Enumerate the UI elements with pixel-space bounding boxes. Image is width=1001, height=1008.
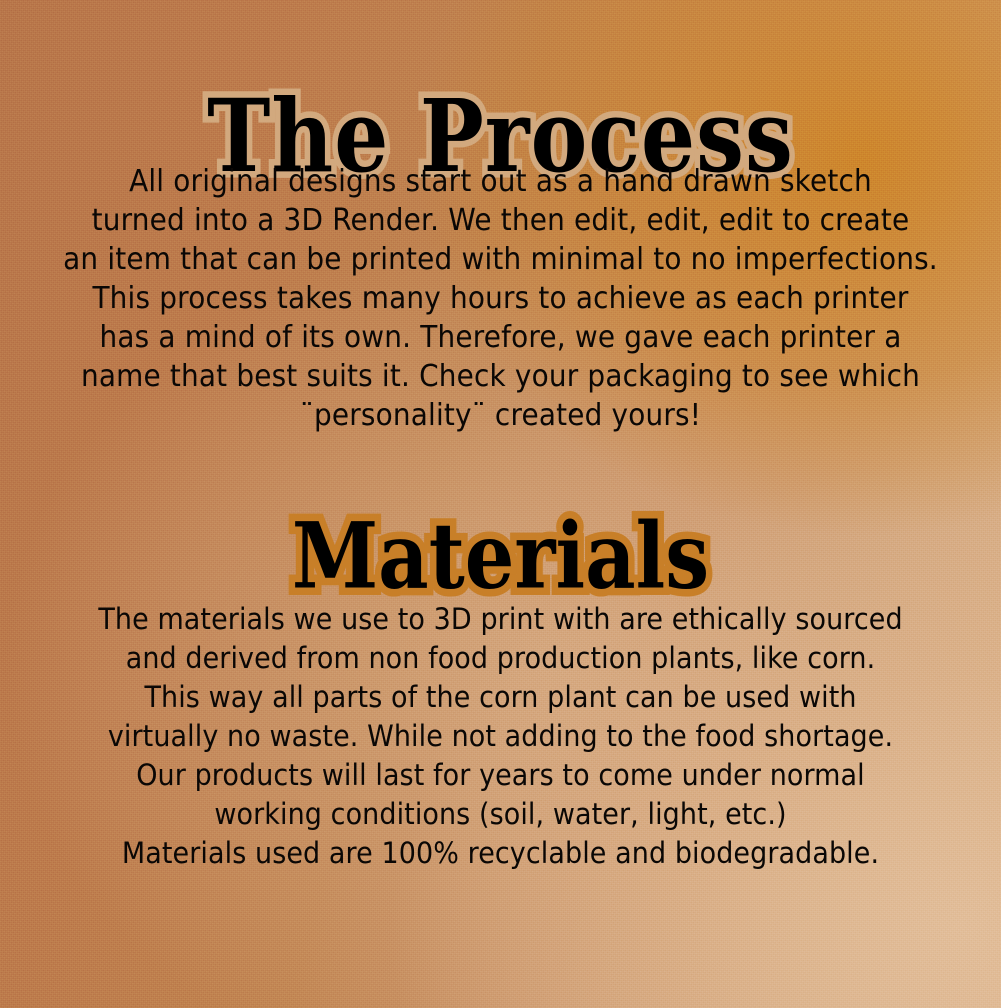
materials-line-2: and derived from non food production pla… [59,639,942,678]
materials-line-6: working conditions (soil, water, light, … [59,795,942,834]
process-line-4: This process takes many hours to achieve… [59,279,942,318]
process-line-1: All original designs start out as a hand… [59,162,942,201]
materials-line-5: Our products will last for years to come… [59,756,942,795]
process-line-3: an item that can be printed with minimal… [59,240,942,279]
materials-line-7: Materials used are 100% recyclable and b… [59,834,942,873]
materials-line-1: The materials we use to 3D print with ar… [59,600,942,639]
heading-materials: Materials [0,512,1001,602]
poster-content: The Process All original designs start o… [0,0,1001,1008]
process-line-6: name that best suits it. Check your pack… [59,357,942,396]
materials-line-3: This way all parts of the corn plant can… [59,678,942,717]
process-line-7: ¨personality¨ created yours! [59,396,942,435]
process-description-paragraph: All original designs start out as a hand… [26,162,975,435]
process-line-2: turned into a 3D Render. We then edit, e… [59,201,942,240]
poster-canvas: The Process All original designs start o… [0,0,1001,1008]
process-line-5: has a mind of its own. Therefore, we gav… [59,318,942,357]
materials-description-paragraph: The materials we use to 3D print with ar… [26,600,975,873]
materials-line-4: virtually no waste. While not adding to … [59,717,942,756]
